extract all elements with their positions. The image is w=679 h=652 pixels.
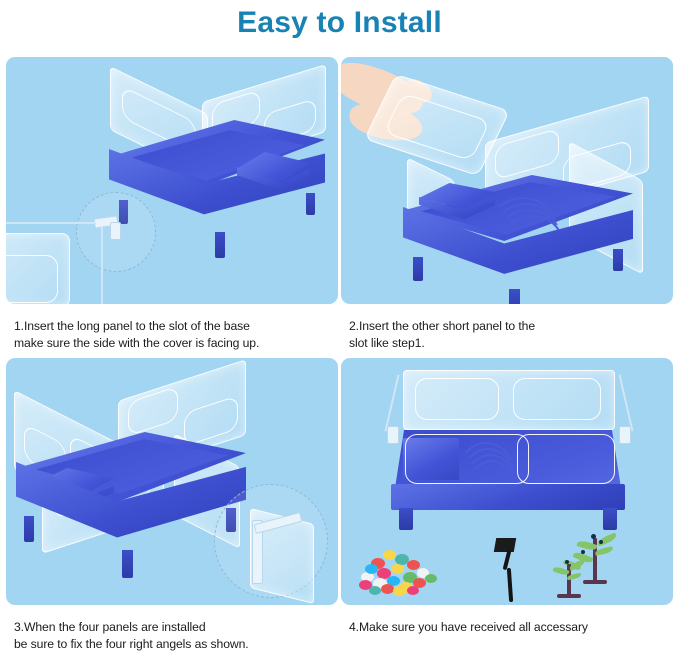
step-2-figure xyxy=(341,57,673,304)
algae-scraper xyxy=(493,538,523,604)
step-3-figure xyxy=(6,358,338,605)
step-2-caption: 2.Insert the other short panel to the sl… xyxy=(349,318,673,351)
steps-grid: 1.Insert the long panel to the slot of t… xyxy=(0,52,679,646)
step-1: 1.Insert the long panel to the slot of t… xyxy=(6,57,338,351)
step-4: 4.Make sure you have received all access… xyxy=(341,358,673,636)
colored-pebbles xyxy=(355,544,441,594)
step-1-figure xyxy=(6,57,338,304)
step-4-figure xyxy=(341,358,673,605)
step-3-caption: 3.When the four panels are installed be … xyxy=(14,619,338,652)
page-title: Easy to Install xyxy=(0,2,679,44)
step-2: 2.Insert the other short panel to the sl… xyxy=(341,57,673,351)
step-3: 3.When the four panels are installed be … xyxy=(6,358,338,652)
step-1-caption: 1.Insert the long panel to the slot of t… xyxy=(14,318,338,351)
step-4-caption: 4.Make sure you have received all access… xyxy=(349,619,673,636)
plastic-plants xyxy=(551,532,629,604)
